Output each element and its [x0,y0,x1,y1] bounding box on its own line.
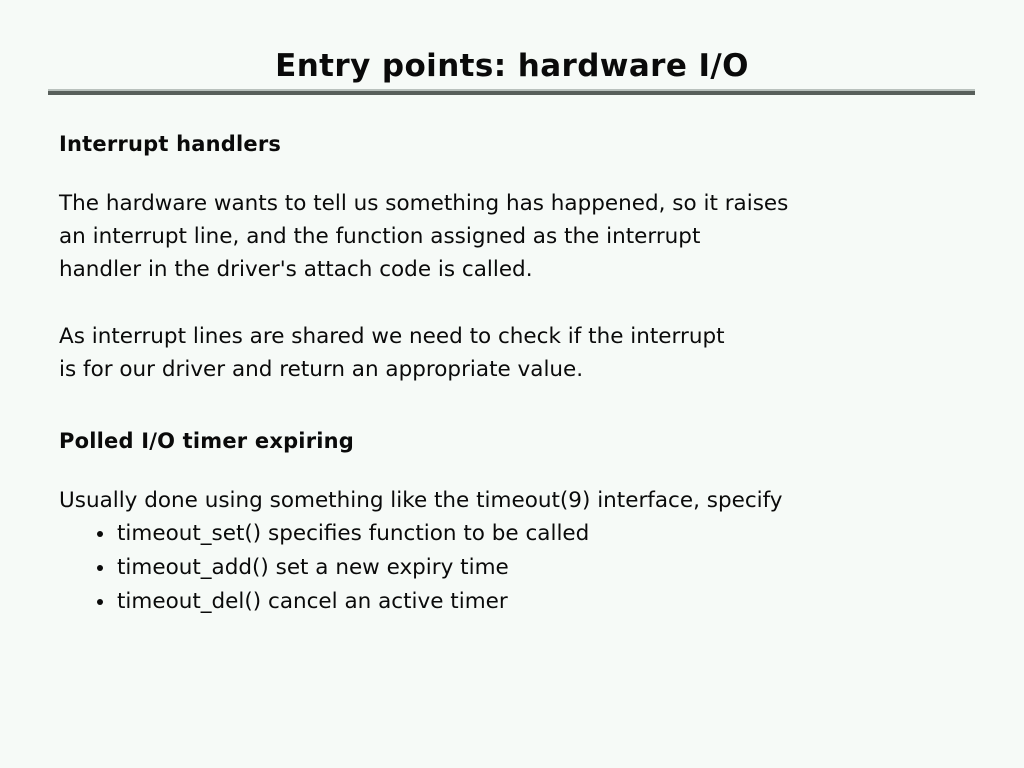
list-item: timeout_set() specifies function to be c… [59,517,979,551]
section-interrupt-handlers: Interrupt handlers The hardware wants to… [59,129,979,386]
spacer [59,386,979,426]
section-polled-io-timer: Polled I/O timer expiring Usually done u… [59,426,979,619]
section-heading-interrupt-handlers: Interrupt handlers [59,129,979,159]
paragraph-interrupt-shared: As interrupt lines are shared we need to… [59,320,979,386]
list-item-label: timeout_del() cancel an active timer [117,589,508,614]
timeout-function-list: timeout_set() specifies function to be c… [59,517,979,619]
list-item-label: timeout_add() set a new expiry time [117,555,509,580]
bullet-dot-icon [97,531,103,537]
page-title: Entry points: hardware I/O [0,46,1024,86]
bullet-dot-icon [97,599,103,605]
spacer [59,456,979,484]
paragraph-timeout-lead: Usually done using something like the ti… [59,484,979,517]
paragraph-interrupt-raise: The hardware wants to tell us something … [59,187,979,286]
spacer [59,159,979,187]
slide-body: Interrupt handlers The hardware wants to… [59,129,979,619]
title-divider [48,89,975,95]
list-item: timeout_del() cancel an active timer [59,585,979,619]
list-item-label: timeout_set() specifies function to be c… [117,521,589,546]
slide: Entry points: hardware I/O Interrupt han… [0,0,1024,768]
section-heading-polled-io-timer: Polled I/O timer expiring [59,426,979,456]
divider-body [48,91,975,95]
list-item: timeout_add() set a new expiry time [59,551,979,585]
spacer [59,286,979,320]
bullet-dot-icon [97,565,103,571]
